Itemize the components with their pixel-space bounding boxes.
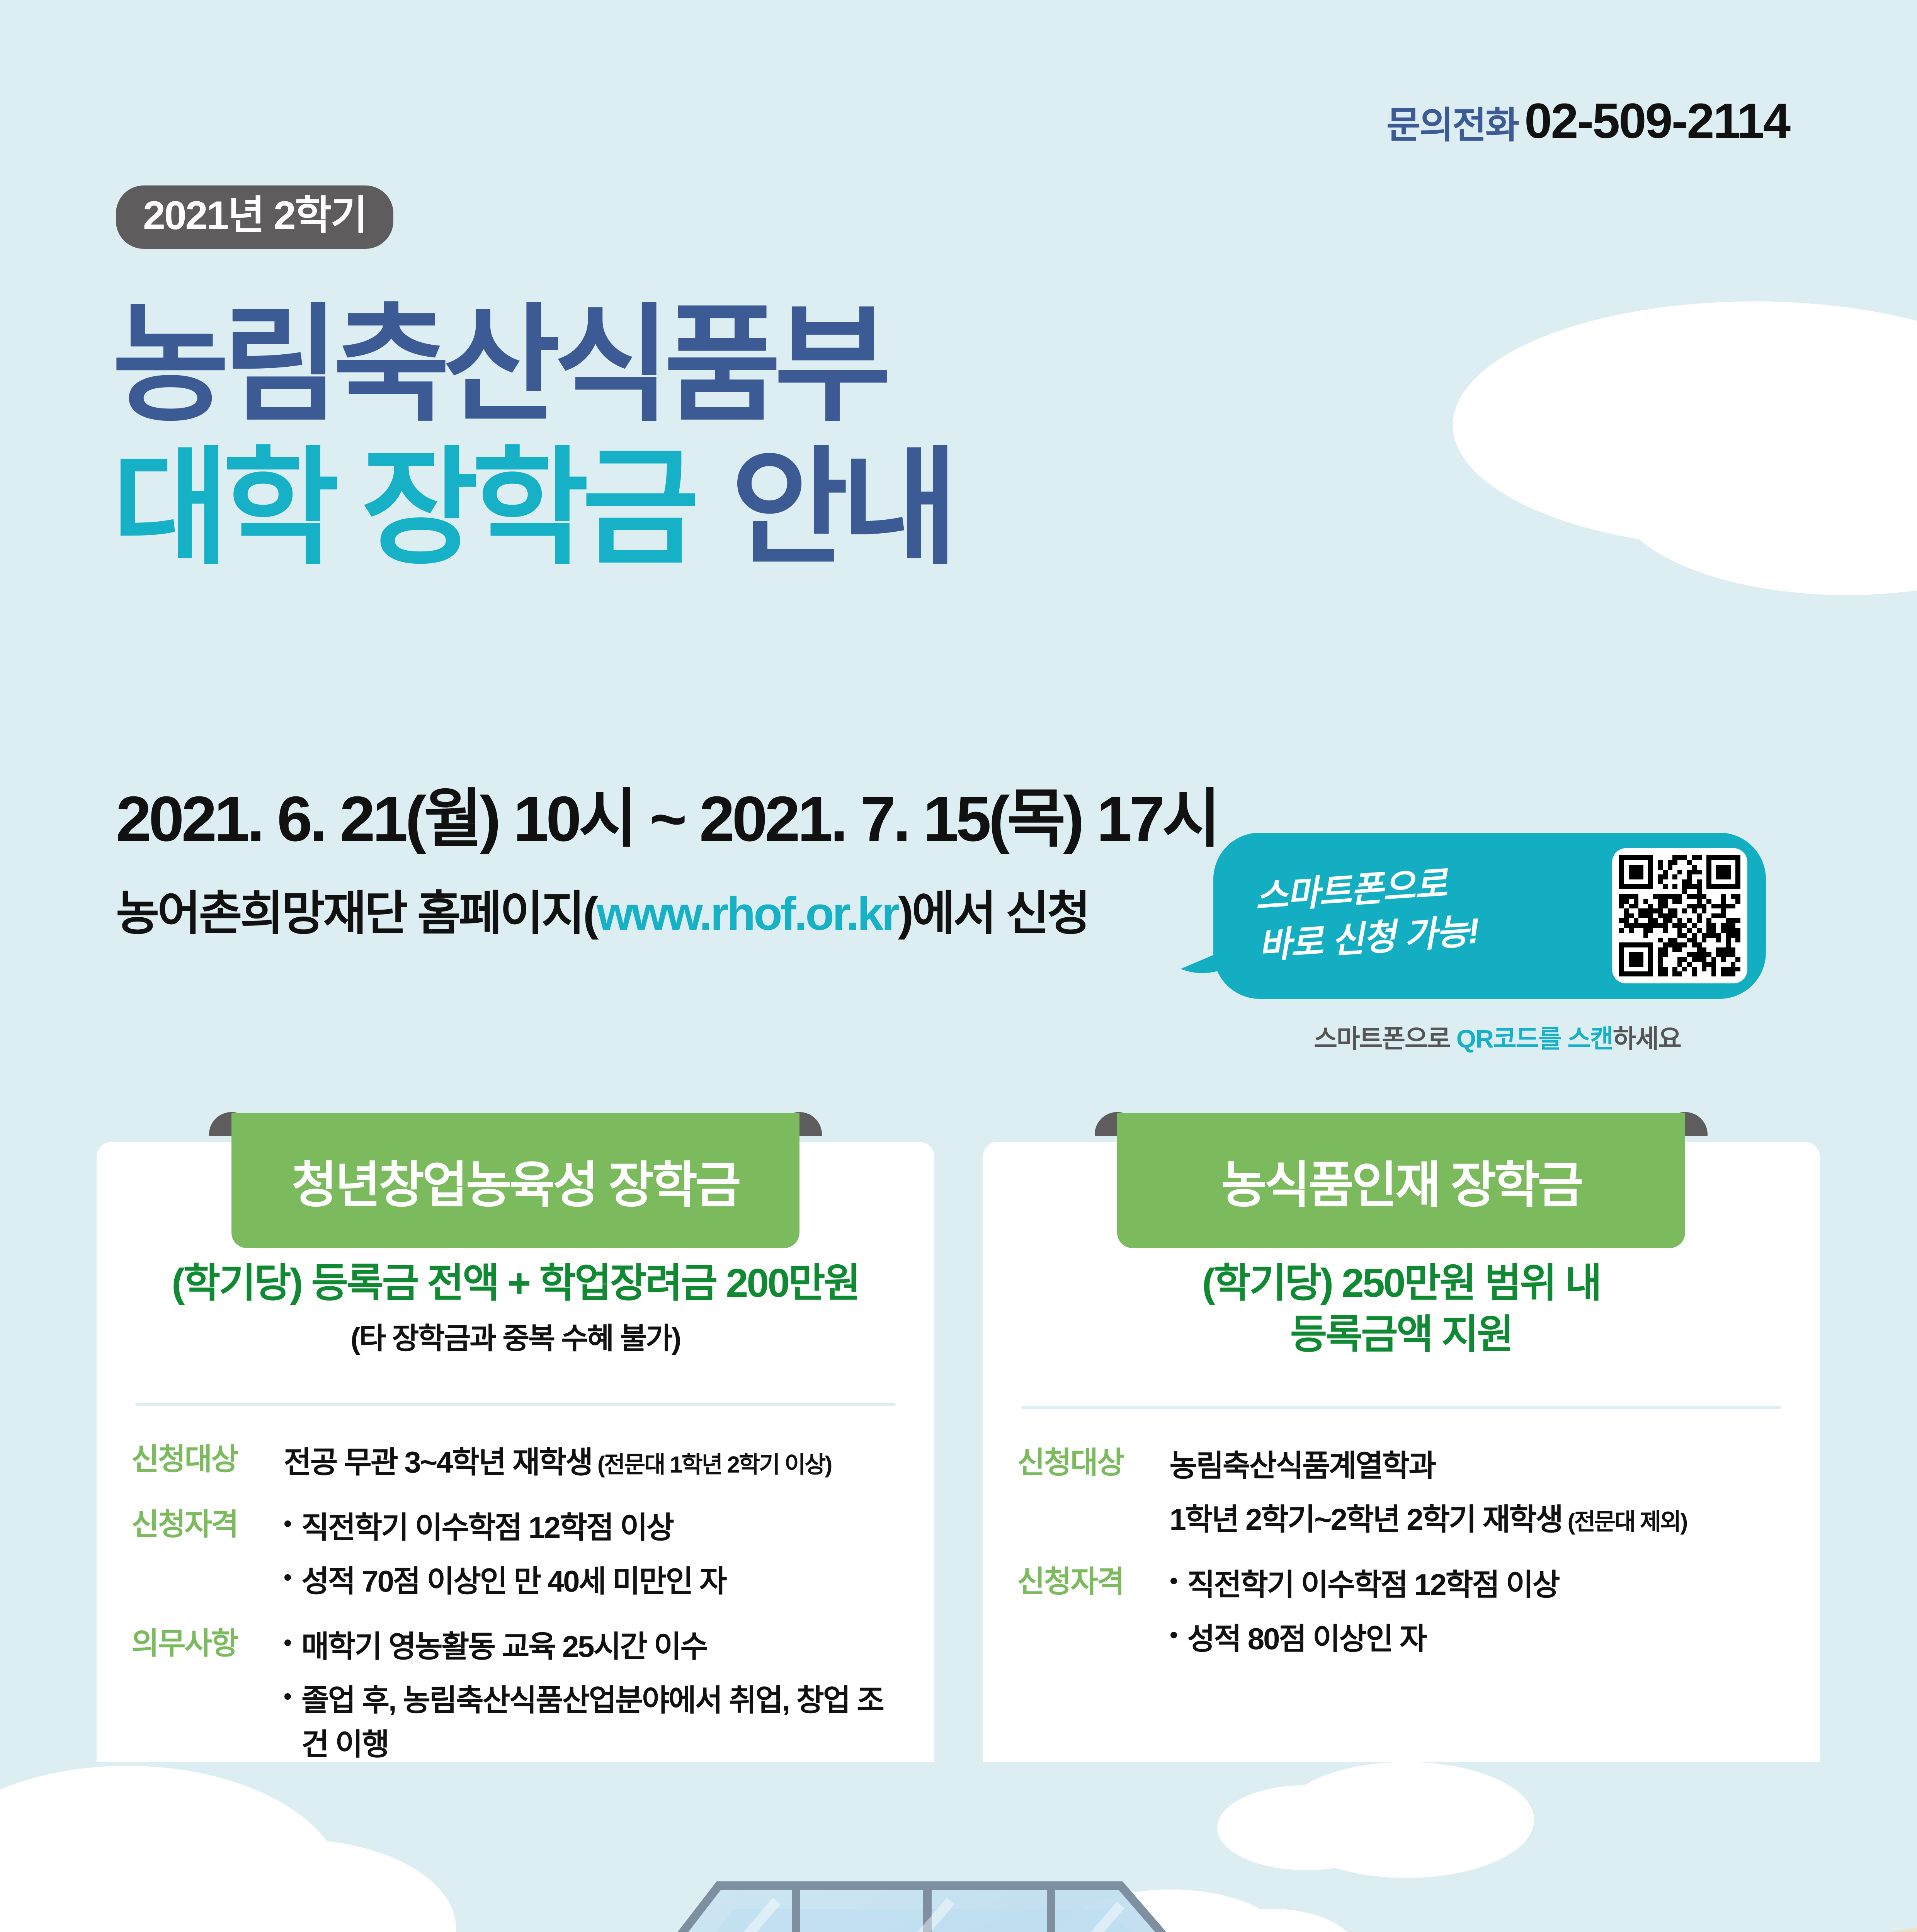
detail-row-label: 신청자격 — [1017, 1563, 1153, 1601]
title-ministry-text: 농림축산식품부 — [112, 294, 885, 436]
detail-text-lines: 전공 무관 3~4학년 재학생 (전문대 1학년 2학기 이상) — [284, 1440, 900, 1484]
tab-pin-right-icon — [777, 1112, 822, 1136]
scholarship-card-tab: 청년창업농육성 장학금 — [231, 1113, 799, 1248]
detail-bullet-item: 매학기 영농활동 교육 25시간 이수 — [284, 1625, 900, 1668]
qr-caption-highlight: QR코드를 스캔 — [1456, 1024, 1613, 1053]
tab-pin-left-icon — [1095, 1112, 1140, 1136]
qr-code[interactable] — [1612, 848, 1747, 983]
scholarship-card-tab-wrap: 청년창업농육성 장학금 — [231, 1113, 799, 1248]
semester-badge: 2021년 2학기 — [116, 185, 393, 249]
tab-pin-right-icon — [1663, 1112, 1708, 1136]
scholarship-amount: (학기당) 250만원 범위 내 등록금액 지원 — [1017, 1258, 1786, 1361]
detail-bullet-item: 졸업 후, 농림축산식품산업분야에서 취업, 창업 조건 이행 — [284, 1679, 900, 1766]
farm-illustration — [0, 1762, 1917, 1932]
application-period: 2021. 6. 21(월) 10시 ~ 2021. 7. 15(목) 17시 — [116, 767, 1218, 859]
detail-bullet-item: 직전학기 이수학점 12학점 이상 — [284, 1506, 900, 1549]
scholarship-detail-row: 신청자격직전학기 이수학점 12학점 이상성적 70점 이상인 만 40세 미만… — [131, 1506, 900, 1603]
scholarship-cards: 청년창업농육성 장학금(학기당) 등록금 전액 + 학업장려금 200만원(타 … — [97, 1142, 1820, 1793]
detail-bullet-item: 성적 80점 이상인 자 — [1170, 1617, 1786, 1661]
detail-bullet-list: 매학기 영농활동 교육 25시간 이수졸업 후, 농림축산식품산업분야에서 취업… — [284, 1625, 900, 1766]
tab-pin-left-icon — [209, 1112, 254, 1136]
apply-prefix: 농어촌희망재단 홈페이지( — [116, 887, 597, 940]
detail-row-label: 신청자격 — [131, 1506, 267, 1544]
detail-row-label: 신청대상 — [131, 1440, 267, 1478]
detail-text-note: (전문대 1학년 2학기 이상) — [592, 1452, 831, 1478]
scholarship-detail-row: 의무사항매학기 영농활동 교육 25시간 이수졸업 후, 농림축산식품산업분야에… — [131, 1625, 900, 1766]
poster-root: 문의전화 02-509-2114 2021년 2학기 농림축산식품부 대학 장학… — [0, 0, 1917, 1932]
qr-caption-pre: 스마트폰으로 — [1314, 1024, 1456, 1053]
detail-bullet-item: 성적 70점 이상인 만 40세 미만인 자 — [284, 1560, 900, 1603]
qr-matrix — [1619, 855, 1740, 976]
scholarship-detail-row: 신청대상농림축산식품계열학과1학년 2학기~2학년 2학기 재학생 (전문대 제… — [1017, 1444, 1786, 1541]
scholarship-card: 청년창업농육성 장학금(학기당) 등록금 전액 + 학업장려금 200만원(타 … — [97, 1142, 934, 1793]
detail-text-note: (전문대 제외) — [1562, 1509, 1687, 1535]
contact-phone: 문의전화 02-509-2114 — [1386, 93, 1789, 150]
detail-row-body: 전공 무관 3~4학년 재학생 (전문대 1학년 2학기 이상) — [284, 1440, 900, 1484]
detail-text-line: 농림축산식품계열학과 — [1170, 1444, 1786, 1488]
detail-text-line: 1학년 2학기~2학년 2학기 재학생 (전문대 제외) — [1170, 1498, 1786, 1541]
title-line-ministry: 농림축산식품부 — [112, 294, 952, 437]
scholarship-card: 농식품인재 장학금(학기당) 250만원 범위 내 등록금액 지원신청대상농림축… — [983, 1142, 1820, 1793]
scholarship-detail-row: 신청자격직전학기 이수학점 12학점 이상성적 80점 이상인 자 — [1017, 1563, 1786, 1660]
scholarship-amount-note: (타 장학금과 중복 수혜 불가) — [131, 1315, 900, 1357]
scholarship-card-tab: 농식품인재 장학금 — [1117, 1113, 1685, 1248]
contact-phone-label: 문의전화 — [1386, 95, 1518, 149]
detail-row-body: 직전학기 이수학점 12학점 이상성적 70점 이상인 만 40세 미만인 자 — [284, 1506, 900, 1603]
detail-row-label: 신청대상 — [1017, 1444, 1153, 1482]
qr-bubble-text: 스마트폰으로 바로 신청 가능! — [1210, 858, 1481, 974]
title-scholarship-text: 대학 장학금 — [112, 437, 692, 579]
contact-phone-number: 02-509-2114 — [1524, 93, 1789, 150]
scholarship-amount: (학기당) 등록금 전액 + 학업장려금 200만원 — [131, 1258, 900, 1309]
detail-row-body: 농림축산식품계열학과1학년 2학기~2학년 2학기 재학생 (전문대 제외) — [1170, 1444, 1786, 1541]
card-divider — [135, 1403, 896, 1406]
scholarship-detail-rows: 신청대상농림축산식품계열학과1학년 2학기~2학년 2학기 재학생 (전문대 제… — [1017, 1444, 1786, 1660]
scholarship-card-tab-wrap: 농식품인재 장학금 — [1117, 1113, 1685, 1248]
detail-bullet-list: 직전학기 이수학점 12학점 이상성적 80점 이상인 자 — [1170, 1563, 1786, 1660]
qr-speech-bubble: 스마트폰으로 바로 신청 가능! — [1213, 833, 1766, 999]
scholarship-detail-row: 신청대상전공 무관 3~4학년 재학생 (전문대 1학년 2학기 이상) — [131, 1440, 900, 1484]
detail-row-label: 의무사항 — [131, 1625, 267, 1663]
qr-caption-post: 하세요 — [1613, 1024, 1681, 1053]
detail-text-lines: 농림축산식품계열학과1학년 2학기~2학년 2학기 재학생 (전문대 제외) — [1170, 1444, 1786, 1541]
page-title: 농림축산식품부 대학 장학금 안내 — [112, 294, 952, 579]
title-guide-text: 안내 — [731, 437, 951, 579]
apply-suffix: )에서 신청 — [898, 887, 1089, 940]
detail-row-body: 직전학기 이수학점 12학점 이상성적 80점 이상인 자 — [1170, 1563, 1786, 1660]
scholarship-detail-rows: 신청대상전공 무관 3~4학년 재학생 (전문대 1학년 2학기 이상)신청자격… — [131, 1440, 900, 1766]
title-line-subject: 대학 장학금 안내 — [112, 437, 952, 580]
detail-row-body: 매학기 영농활동 교육 25시간 이수졸업 후, 농림축산식품산업분야에서 취업… — [284, 1625, 900, 1766]
qr-caption: 스마트폰으로 QR코드를 스캔하세요 — [1235, 1018, 1760, 1055]
application-channel: 농어촌희망재단 홈페이지(www.rhof.or.kr)에서 신청 — [116, 875, 1089, 944]
apply-url[interactable]: www.rhof.or.kr — [597, 887, 898, 940]
detail-text-line: 전공 무관 3~4학년 재학생 (전문대 1학년 2학기 이상) — [284, 1440, 900, 1484]
card-divider — [1021, 1406, 1782, 1409]
detail-bullet-item: 직전학기 이수학점 12학점 이상 — [1170, 1563, 1786, 1607]
detail-bullet-list: 직전학기 이수학점 12학점 이상성적 70점 이상인 만 40세 미만인 자 — [284, 1506, 900, 1603]
